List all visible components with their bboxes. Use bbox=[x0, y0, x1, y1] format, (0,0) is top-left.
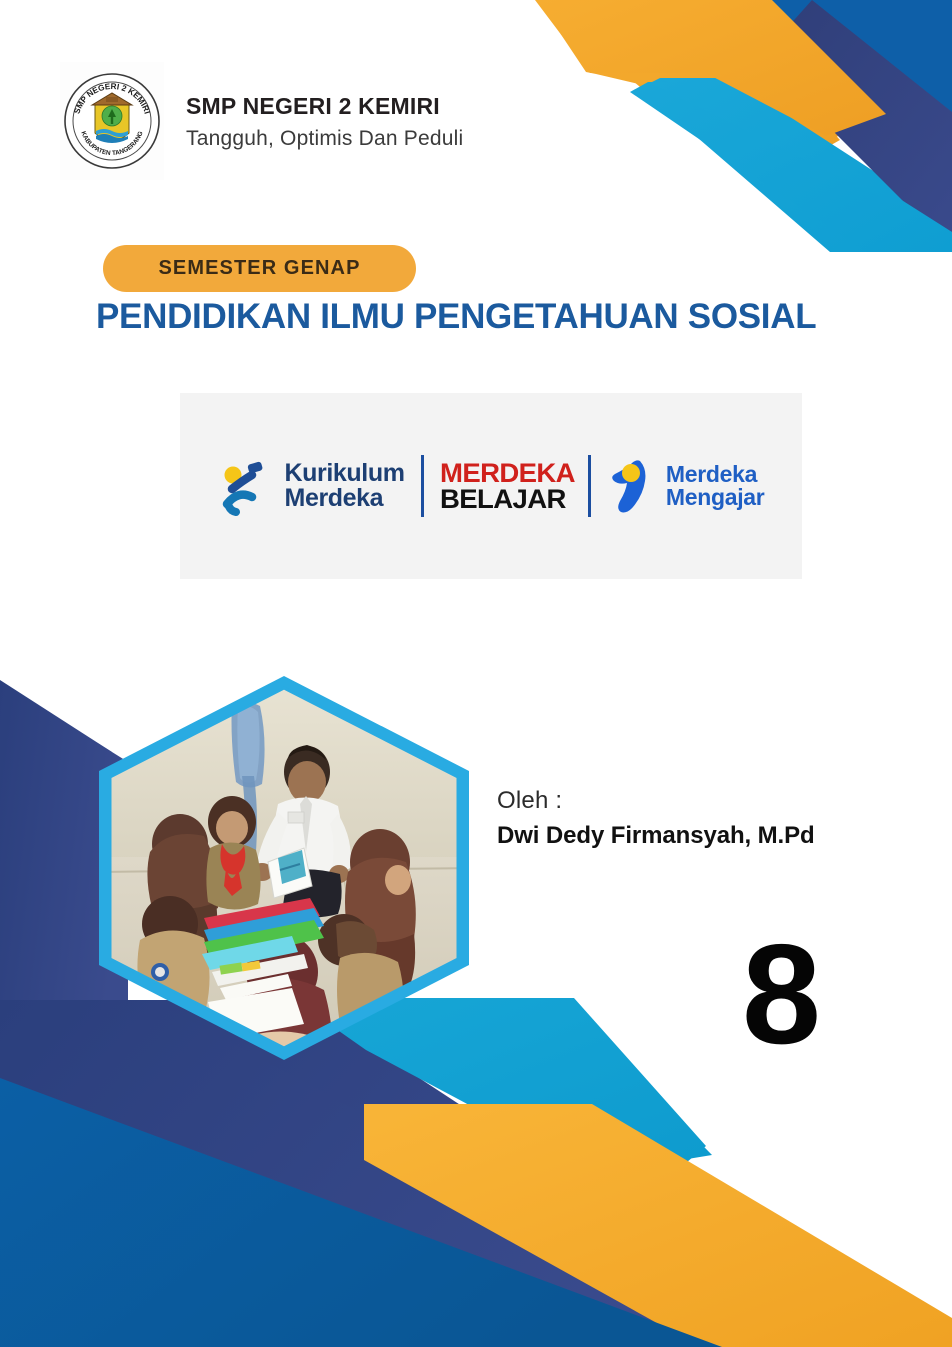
merdeka-belajar-logo: MERDEKA BELAJAR bbox=[424, 460, 588, 512]
author-by-label: Oleh : bbox=[497, 785, 815, 817]
document-header: SMP NEGERI 2 KEMIRI KABUPATEN TANGERANG bbox=[60, 62, 463, 180]
kurikulum-merdeka-icon bbox=[218, 455, 276, 517]
merdeka-mengajar-line2: Mengajar bbox=[666, 486, 765, 509]
author-block: Oleh : Dwi Dedy Firmansyah, M.Pd bbox=[497, 785, 815, 853]
page-title: PENDIDIKAN ILMU PENGETAHUAN SOSIAL bbox=[96, 298, 896, 337]
grade-number: 8 bbox=[742, 924, 819, 1066]
semester-badge-label: SEMESTER GENAP bbox=[158, 257, 360, 280]
school-identity: SMP NEGERI 2 KEMIRI Tangguh, Optimis Dan… bbox=[186, 88, 463, 153]
kurikulum-merdeka-logo: Kurikulum Merdeka bbox=[202, 455, 421, 517]
author-name: Dwi Dedy Firmansyah, M.Pd bbox=[497, 820, 815, 852]
semester-badge: SEMESTER GENAP bbox=[103, 245, 416, 292]
program-banner: Kurikulum Merdeka MERDEKA BELAJAR Merd bbox=[180, 393, 802, 579]
merdeka-belajar-line2: BELAJAR bbox=[440, 486, 575, 512]
merdeka-belajar-line1: MERDEKA bbox=[440, 460, 575, 486]
school-motto: Tangguh, Optimis Dan Peduli bbox=[186, 125, 463, 153]
school-name: SMP NEGERI 2 KEMIRI bbox=[186, 92, 463, 121]
merdeka-mengajar-icon bbox=[607, 455, 657, 517]
cover-page: SMP NEGERI 2 KEMIRI KABUPATEN TANGERANG bbox=[0, 0, 952, 1347]
school-crest-icon: SMP NEGERI 2 KEMIRI KABUPATEN TANGERANG bbox=[60, 62, 164, 180]
cover-photo bbox=[92, 672, 477, 1064]
kurikulum-merdeka-line1: Kurikulum bbox=[285, 461, 405, 487]
merdeka-mengajar-logo: Merdeka Mengajar bbox=[591, 455, 781, 517]
kurikulum-merdeka-line2: Merdeka bbox=[285, 486, 405, 512]
photo-content bbox=[92, 672, 477, 1064]
merdeka-mengajar-line1: Merdeka bbox=[666, 463, 765, 486]
